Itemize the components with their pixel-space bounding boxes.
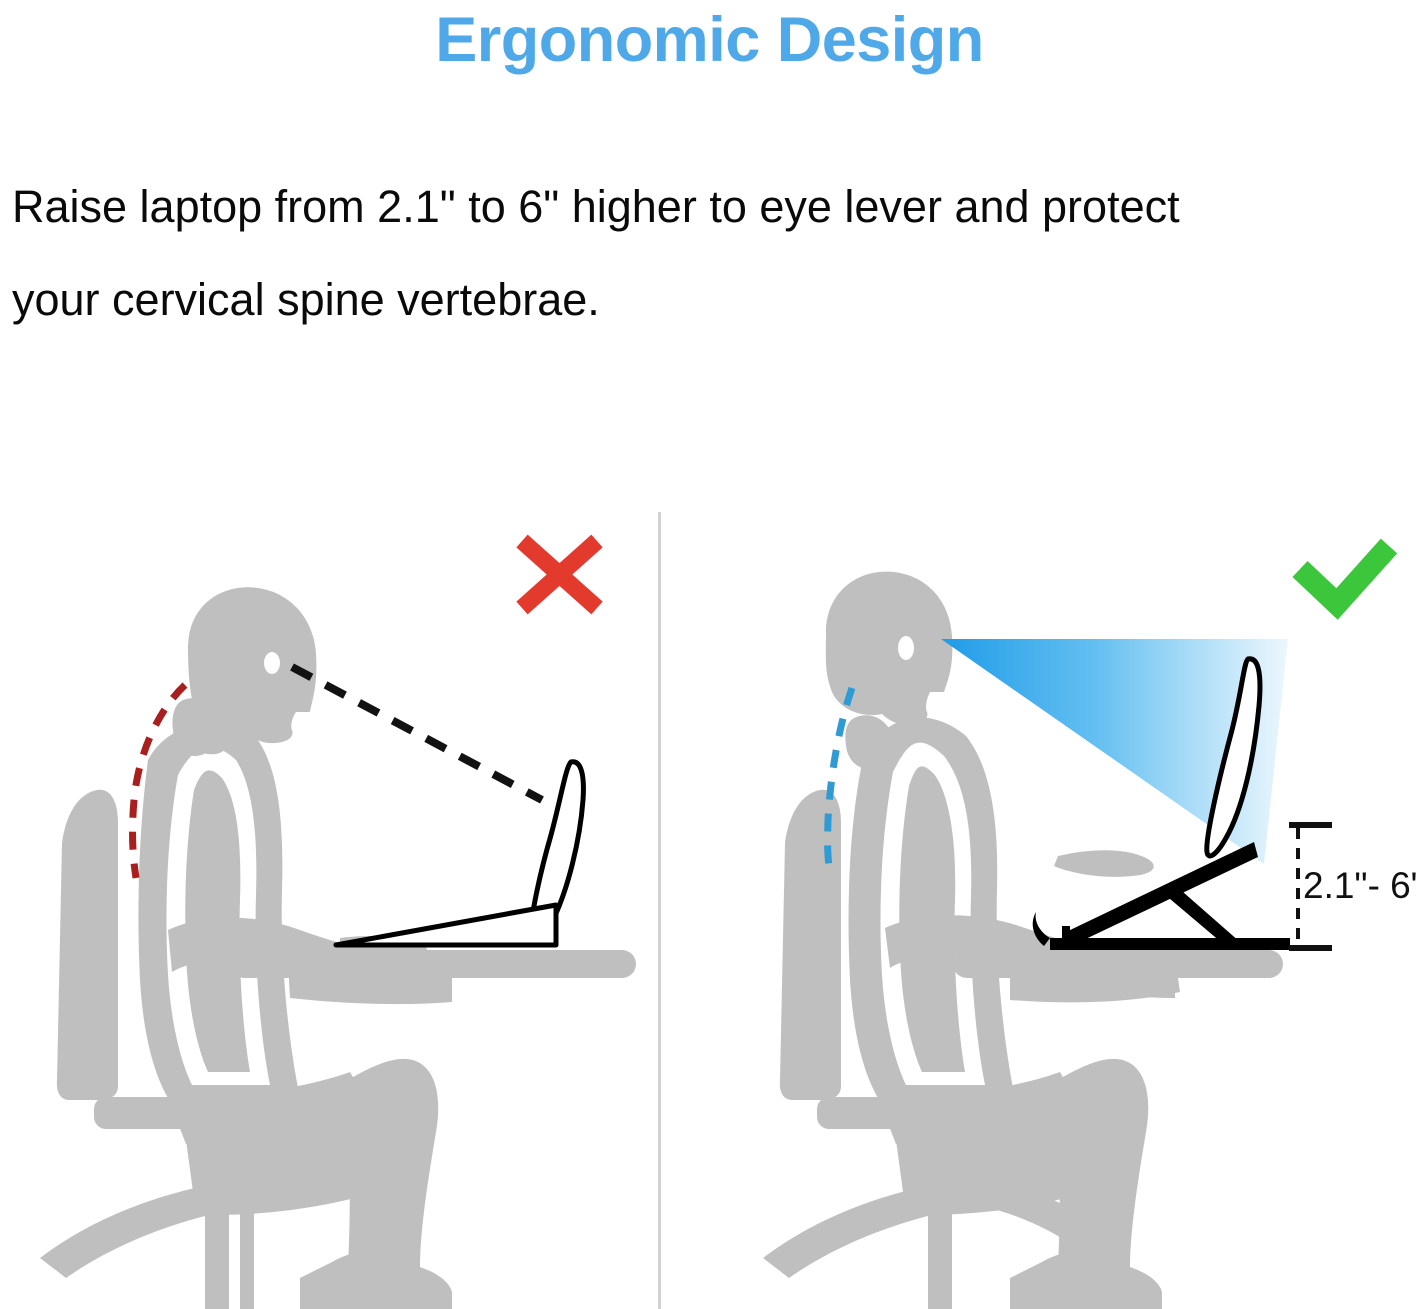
cross-mark-icon: [522, 541, 597, 608]
desk-surface-bad: [230, 950, 636, 978]
bad-posture-illustration: [40, 541, 636, 1309]
check-mark-icon: [1300, 546, 1389, 604]
good-posture-illustration: [763, 546, 1389, 1309]
laptop-flat: [336, 762, 583, 945]
eye-sight-line: [292, 667, 542, 800]
desk-surface-good: [953, 950, 1283, 978]
illustration-canvas: [0, 0, 1419, 1309]
height-dimension-label: 2.1"- 6": [1303, 866, 1419, 906]
ergonomic-design-infographic: Ergonomic Design Raise laptop from 2.1" …: [0, 0, 1419, 1309]
